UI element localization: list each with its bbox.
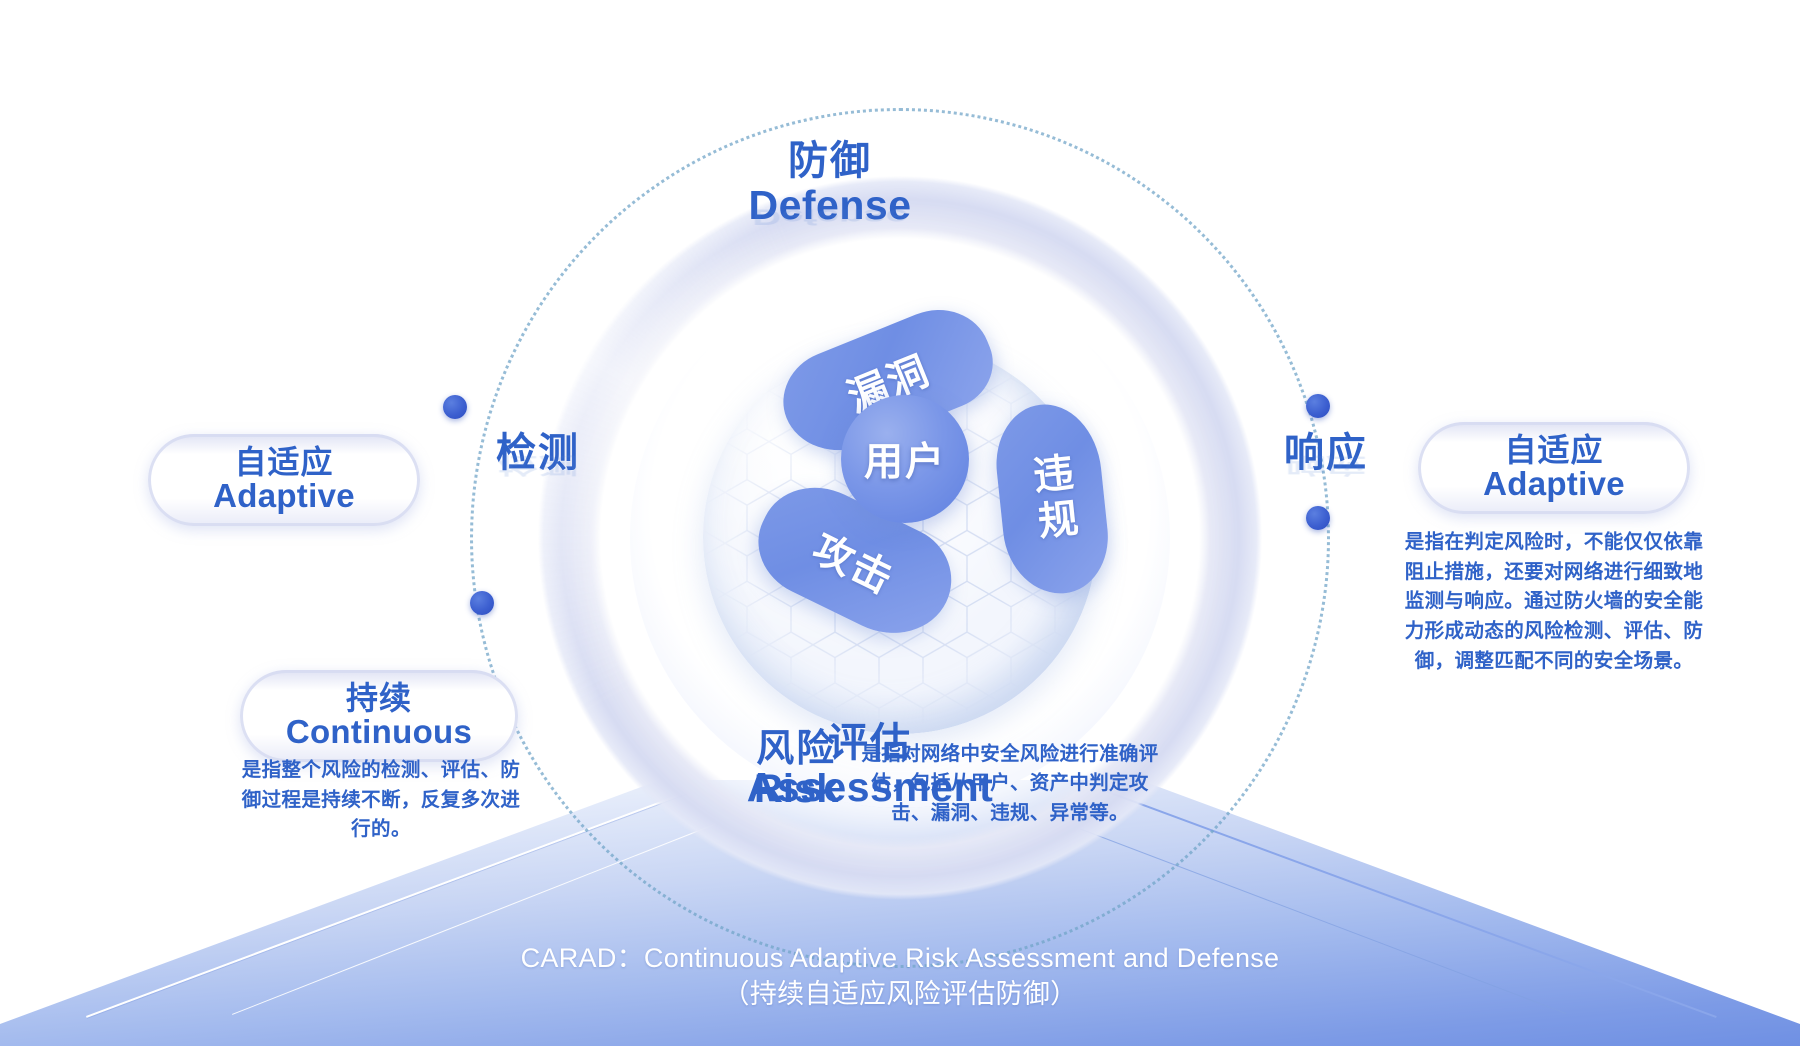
blob-attack-label: 攻击	[805, 517, 906, 606]
caption-line-2: （持续自适应风险评估防御）	[0, 976, 1800, 1012]
quadrant-response: 响应 响应	[1266, 432, 1386, 519]
pill-adaptive-left[interactable]: 自适应 Adaptive	[148, 434, 420, 526]
caption-line-1: CARAD：Continuous Adaptive Risk Assessmen…	[0, 940, 1800, 976]
description-adaptive: 是指在判定风险时，不能仅仅依靠阻止措施，还要对网络进行细致地监测与响应。通过防火…	[1404, 528, 1704, 676]
pill-adaptive-right[interactable]: 自适应 Adaptive	[1418, 422, 1690, 514]
risk-label: 风险 Risk	[754, 730, 839, 810]
pill-adaptive-left-cn: 自适应	[234, 446, 333, 479]
quadrant-response-reflection: 响应	[1266, 452, 1386, 476]
quadrant-detection-reflection: 检测	[478, 452, 598, 476]
description-risk: 是指对网络中安全风险进行准确评估，包括从用户、资产中判定攻击、漏洞、违规、异常等…	[860, 740, 1160, 828]
risk-label-en: Risk	[754, 769, 839, 810]
description-continuous: 是指整个风险的检测、评估、防御过程是持续不断，反复多次进行的。	[236, 756, 526, 845]
diagram-canvas: 漏洞 违规 攻击 用户 防御 Defense Defense 评估 Assess…	[0, 0, 1800, 1046]
pill-continuous-cn: 持续	[346, 682, 412, 715]
orbit-node-left-lower[interactable]	[470, 591, 494, 615]
pill-continuous[interactable]: 持续 Continuous	[240, 670, 518, 762]
core-user-bubble[interactable]: 用户	[841, 395, 969, 523]
risk-label-cn: 风险	[754, 730, 839, 769]
core-user-label: 用户	[864, 431, 946, 487]
pill-adaptive-right-cn: 自适应	[1504, 434, 1603, 467]
blob-violation-label: 违规	[1026, 451, 1077, 547]
quadrant-defense-cn: 防御	[700, 140, 960, 183]
pill-adaptive-left-en: Adaptive	[213, 479, 355, 513]
pill-continuous-en: Continuous	[286, 715, 472, 749]
orbit-node-left-upper[interactable]	[443, 395, 467, 419]
caption: CARAD：Continuous Adaptive Risk Assessmen…	[0, 940, 1800, 1012]
pill-adaptive-right-en: Adaptive	[1483, 467, 1625, 501]
quadrant-defense-reflection: Defense	[700, 205, 960, 229]
quadrant-detection: 检测 检测	[478, 432, 598, 519]
orbit-node-right-upper[interactable]	[1306, 394, 1330, 418]
quadrant-defense: 防御 Defense Defense	[700, 140, 960, 272]
